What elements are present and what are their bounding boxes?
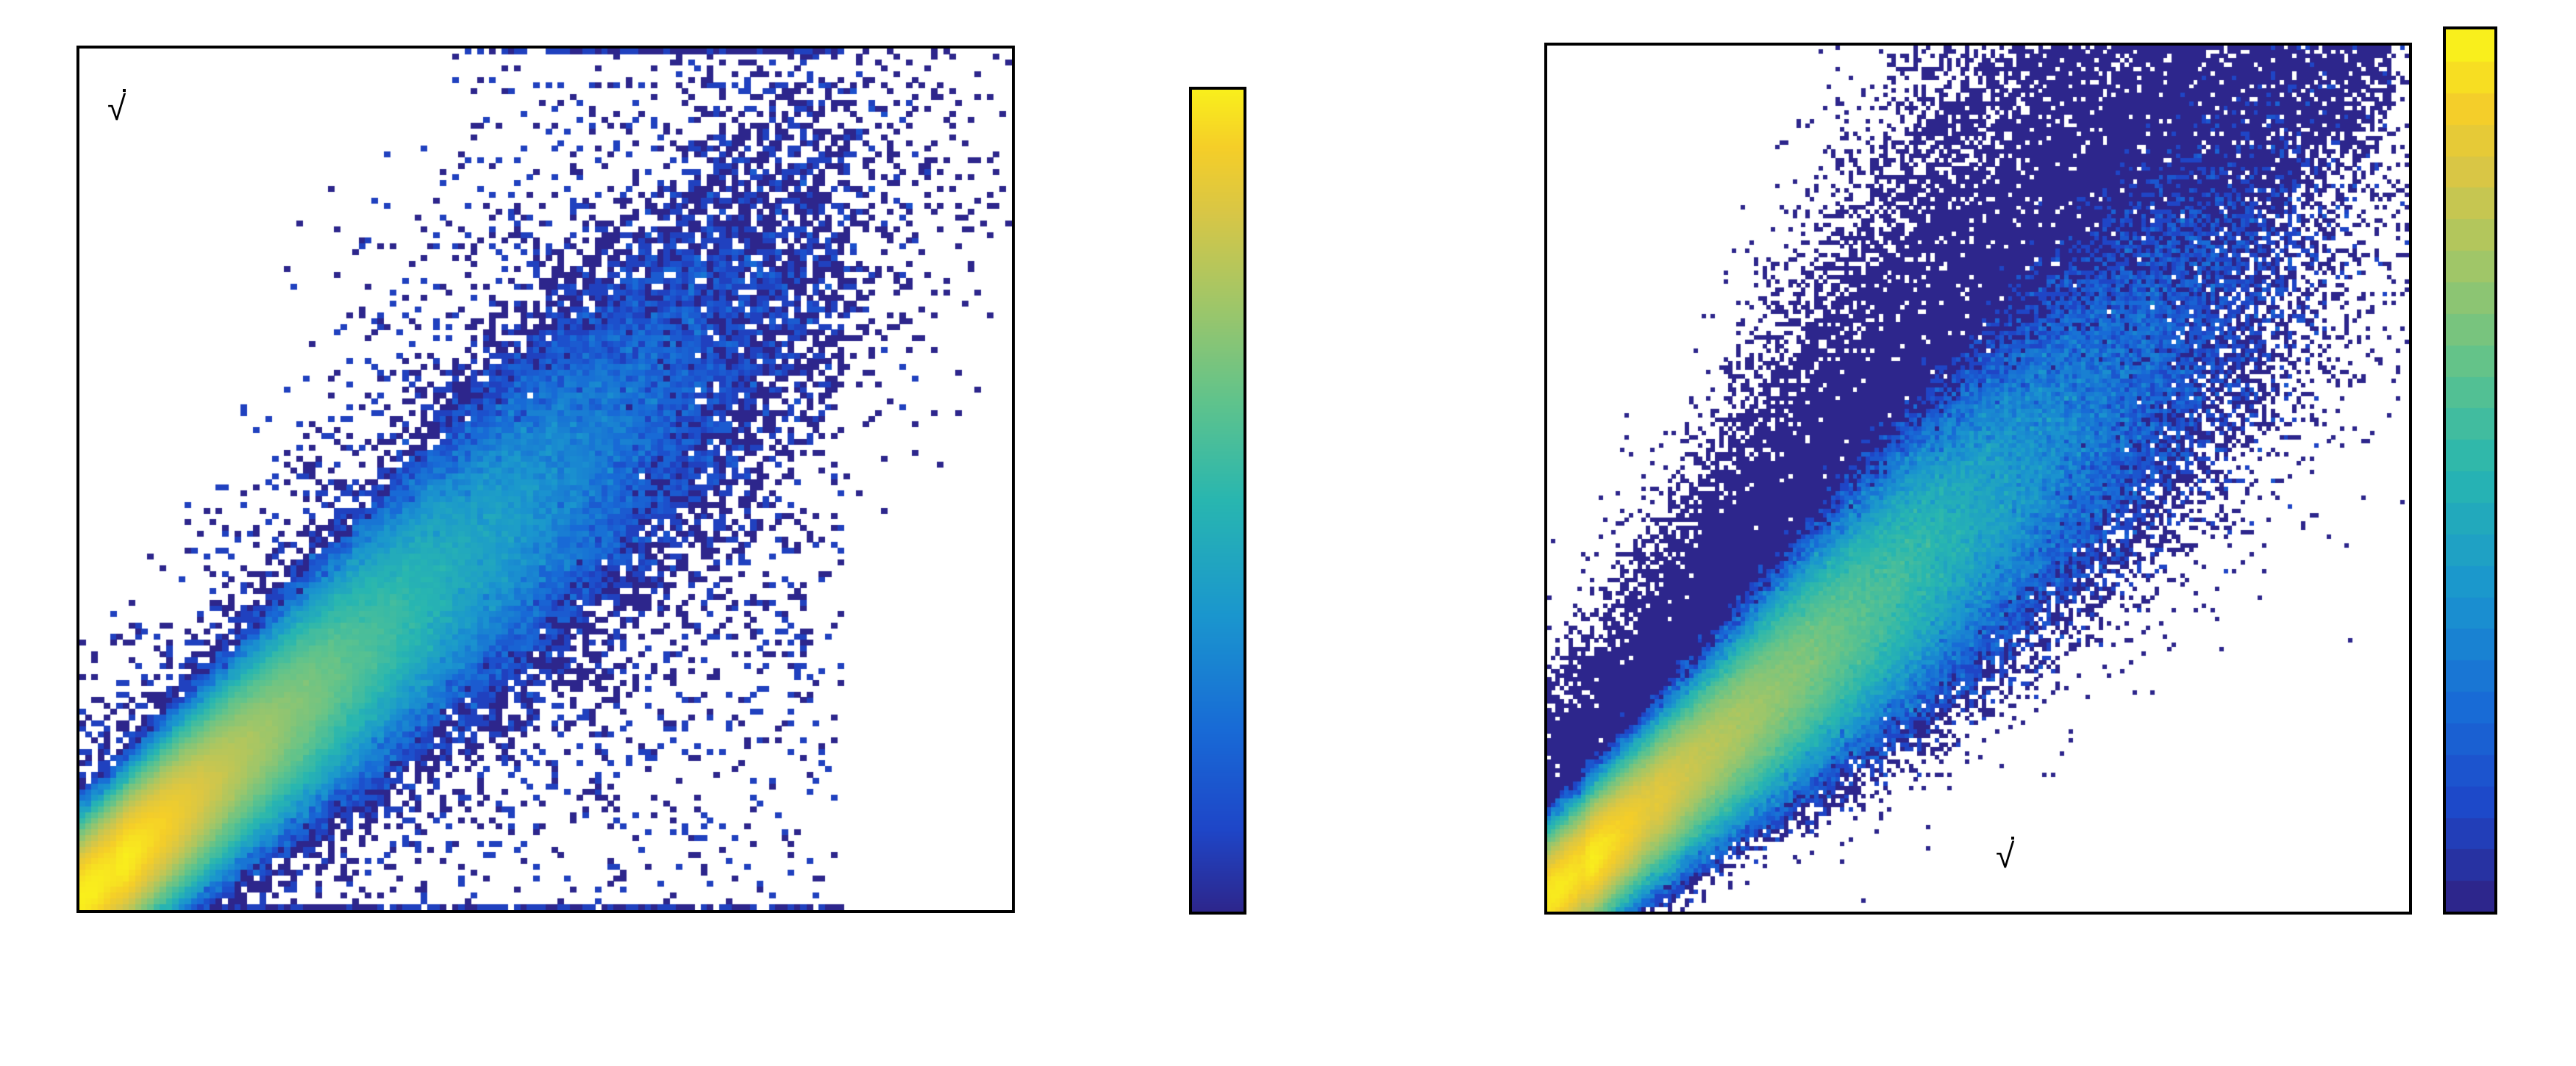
- right-sqrt-snn: √: [1996, 836, 2014, 881]
- left-plot-frame: [76, 46, 1015, 913]
- left-annotation-system: √: [107, 88, 126, 133]
- right-colorbar-gradient: [2446, 29, 2494, 912]
- right-colorbar: [2443, 26, 2497, 915]
- left-scatter-canvas: [79, 49, 1012, 910]
- left-colorbar-gradient: [1192, 90, 1244, 912]
- right-annotation-system: √: [1996, 836, 2014, 881]
- figure-root: √ √: [0, 0, 2576, 1066]
- right-plot-frame: [1544, 43, 2412, 915]
- left-sqrt-snn: √: [107, 88, 126, 133]
- right-scatter-canvas: [1547, 46, 2409, 912]
- left-colorbar: [1189, 87, 1246, 915]
